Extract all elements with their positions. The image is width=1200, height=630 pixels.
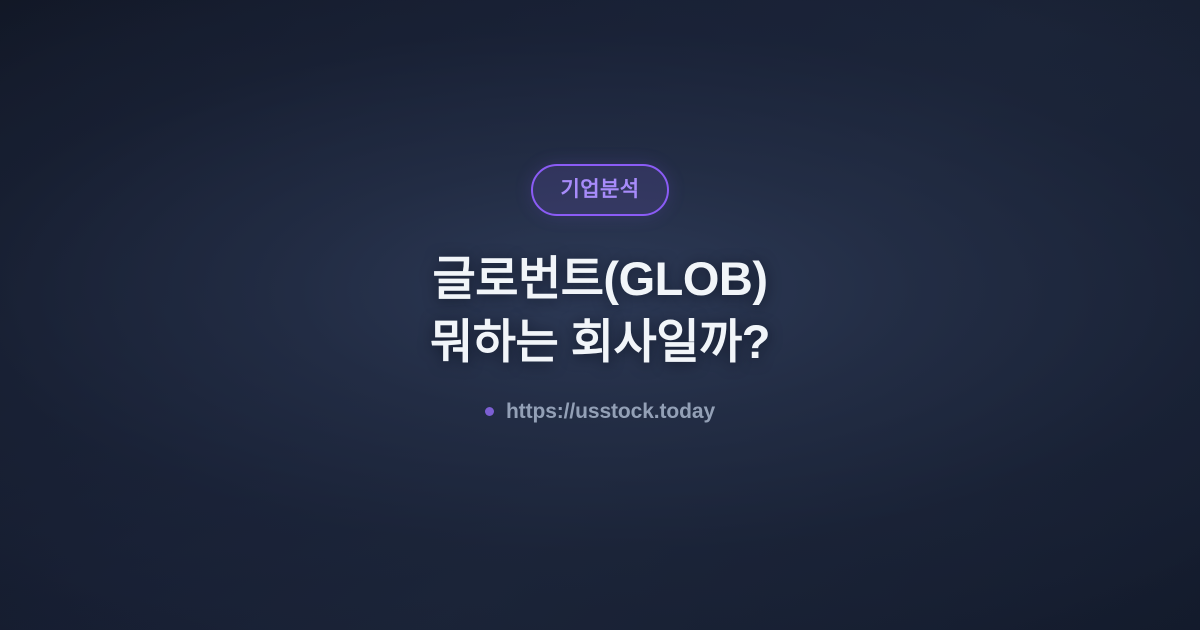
- site-url-label: https://usstock.today: [506, 401, 715, 422]
- category-badge-label: 기업분석: [561, 179, 640, 200]
- headline-line-1: 글로번트(GLOB): [432, 247, 767, 310]
- category-badge: 기업분석: [531, 164, 670, 216]
- card-content: 기업분석 글로번트(GLOB) 뭐하는 회사일까? https://usstoc…: [0, 164, 1200, 423]
- headline-line-2: 뭐하는 회사일까?: [430, 310, 770, 373]
- page-title: 글로번트(GLOB) 뭐하는 회사일까?: [430, 247, 770, 374]
- og-share-card: 기업분석 글로번트(GLOB) 뭐하는 회사일까? https://usstoc…: [0, 0, 1200, 630]
- bullet-dot-icon: [485, 407, 494, 416]
- site-url-row: https://usstock.today: [485, 401, 715, 422]
